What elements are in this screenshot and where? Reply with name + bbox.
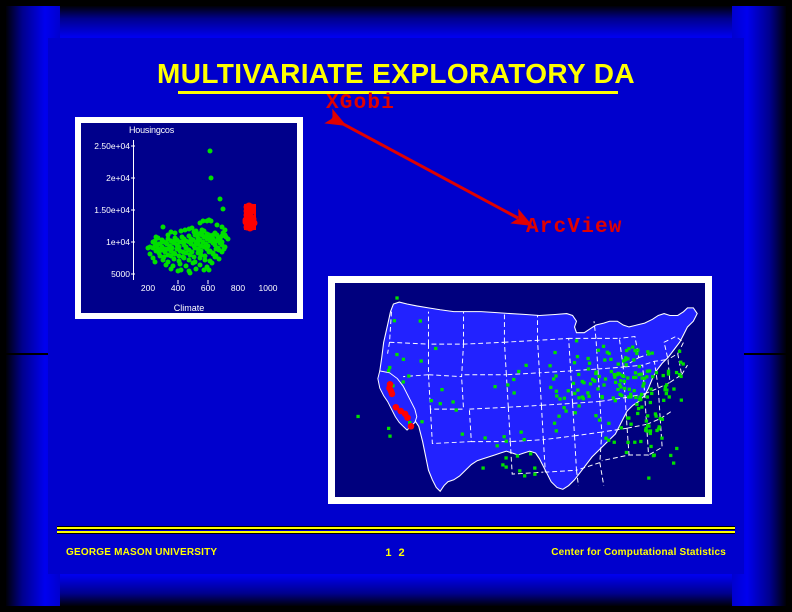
scatter-x-tick-mark (208, 280, 209, 284)
map-marker-city (655, 371, 658, 374)
map-marker-city (518, 469, 521, 472)
scatter-x-tick-label: 800 (231, 283, 245, 293)
scatter-point (161, 224, 166, 229)
map-marker-city (662, 374, 665, 377)
map-marker-city (593, 379, 596, 382)
map-marker-city (619, 379, 622, 382)
map-marker-city (481, 466, 484, 469)
map-marker-city (523, 438, 526, 441)
map-marker-city (557, 415, 560, 418)
map-marker-city (606, 351, 609, 354)
map-marker-city (575, 339, 578, 342)
map-marker-city (552, 377, 555, 380)
map-marker-city (634, 376, 637, 379)
map-marker-city (402, 380, 405, 383)
map-marker-city (609, 358, 612, 361)
map-marker-city (660, 437, 663, 440)
map-marker-city (388, 435, 391, 438)
annotation-xgobi-label: XGobi (326, 92, 395, 115)
map-marker-city (587, 395, 590, 398)
arcview-map-panel[interactable] (328, 276, 712, 504)
us-map-svg (335, 283, 705, 497)
map-marker-city-selected (404, 414, 411, 420)
scatter-point (171, 257, 176, 262)
map-marker-city (672, 387, 675, 390)
map-marker-city (594, 414, 597, 417)
map-marker-city (619, 393, 622, 396)
map-marker-city (625, 363, 628, 366)
footer-rule-black-mid (57, 529, 735, 530)
slide-frame: MULTIVARIATE EXPLORATORY DA Housingcos C… (0, 0, 792, 612)
map-marker-city (627, 347, 630, 350)
map-marker-city (602, 345, 605, 348)
map-marker-city (649, 429, 652, 432)
map-marker-city (629, 423, 632, 426)
map-marker-city (636, 412, 639, 415)
map-marker-city (501, 463, 504, 466)
map-marker-city (554, 374, 557, 377)
map-marker-city (524, 364, 527, 367)
map-marker-city (640, 405, 643, 408)
map-marker-city (682, 362, 685, 365)
map-marker-city-selected (408, 423, 415, 429)
map-marker-city (633, 349, 636, 352)
scatter-point (194, 266, 199, 271)
map-marker-city (651, 375, 654, 378)
map-marker-city (607, 422, 610, 425)
map-marker-city (646, 350, 649, 353)
map-marker-city (649, 388, 652, 391)
scatter-point (176, 269, 181, 274)
scatter-axes: 2.50e+042e+041.50e+041e+045000 200400600… (133, 140, 283, 280)
xgobi-plot-area[interactable]: Housingcos Climate 2.50e+042e+041.50e+04… (81, 123, 297, 313)
scatter-y-tick-mark (131, 178, 135, 179)
scatter-point (216, 257, 221, 262)
map-marker-city (505, 465, 508, 468)
map-marker-city (662, 399, 665, 402)
map-marker-city (461, 433, 464, 436)
map-marker-city (562, 406, 565, 409)
map-marker-city (638, 396, 641, 399)
map-marker-city (395, 296, 398, 299)
map-marker-city (638, 365, 641, 368)
map-marker-city (451, 400, 454, 403)
us-outline (380, 302, 697, 491)
map-marker-city (581, 380, 584, 383)
map-marker-city (647, 476, 650, 479)
map-marker-city (573, 361, 576, 364)
scatter-point (221, 206, 226, 211)
map-marker-city (596, 387, 599, 390)
map-marker-city (669, 454, 672, 457)
map-marker-city (434, 347, 437, 350)
map-marker-city (549, 386, 552, 389)
map-marker-city (635, 403, 638, 406)
map-marker-city (616, 388, 619, 391)
map-marker-city (645, 427, 648, 430)
map-marker-city (533, 473, 536, 476)
map-marker-city (631, 345, 634, 348)
map-marker-city (577, 396, 580, 399)
scatter-brush-rectangle[interactable] (244, 204, 256, 230)
map-marker-city (646, 395, 649, 398)
map-marker-city (646, 414, 649, 417)
scatter-point (197, 255, 202, 260)
scatter-point (197, 221, 202, 226)
scatter-x-tick-label: 1000 (259, 283, 278, 293)
map-marker-city (393, 319, 396, 322)
map-marker-city (548, 364, 551, 367)
map-marker-city (626, 416, 629, 419)
map-marker-city (506, 383, 509, 386)
map-marker-city (598, 375, 601, 378)
map-marker-city (655, 429, 658, 432)
footer-center-name: Center for Computational Statistics (551, 547, 726, 558)
map-marker-city (633, 441, 636, 444)
map-marker-city (598, 418, 601, 421)
title-underline (178, 91, 618, 94)
map-marker-city (626, 357, 629, 360)
scatter-x-tick-label: 200 (141, 283, 155, 293)
map-marker-city (600, 395, 603, 398)
map-marker-city (604, 377, 607, 380)
scatter-y-tick-label: 5000 (111, 269, 130, 279)
scatter-y-tick-label: 2e+04 (106, 173, 130, 183)
map-marker-city (455, 408, 458, 411)
map-marker-city (645, 419, 648, 422)
scatter-y-tick-label: 2.50e+04 (94, 141, 130, 151)
map-marker-city (640, 393, 643, 396)
map-marker-city (668, 395, 671, 398)
map-marker-city (395, 353, 398, 356)
map-marker-city (567, 389, 570, 392)
scatter-point (209, 218, 214, 223)
scatter-x-tick-label: 400 (171, 283, 185, 293)
footer-rule-black-bottom (57, 533, 735, 534)
map-marker-city (420, 420, 423, 423)
map-marker-city (613, 441, 616, 444)
map-marker-city (577, 373, 580, 376)
scatter-point (221, 247, 226, 252)
map-marker-city (440, 388, 443, 391)
scatter-y-tick-mark (131, 241, 135, 242)
scatter-y-axis-label: Housingcos (129, 125, 174, 135)
map-marker-city (387, 427, 390, 430)
map-marker-city (574, 411, 577, 414)
map-marker-city (648, 369, 651, 372)
map-marker-city (642, 382, 645, 385)
annotation-arcview-label: ArcView (526, 216, 623, 239)
map-marker-city (679, 375, 682, 378)
map-marker-city (607, 439, 610, 442)
map-marker-city (649, 445, 652, 448)
map-marker-city (625, 451, 628, 454)
map-marker-city (586, 391, 589, 394)
scatter-point (177, 262, 182, 267)
map-marker-city (635, 352, 638, 355)
map-marker-city (502, 435, 505, 438)
map-marker-city (629, 395, 632, 398)
map-marker-city (637, 407, 640, 410)
map-marker-city (672, 461, 675, 464)
map-marker-city (420, 359, 423, 362)
scatter-point (148, 251, 153, 256)
map-marker-city (520, 431, 523, 434)
page-title: MULTIVARIATE EXPLORATORY DA (48, 58, 744, 90)
scatter-point (209, 175, 214, 180)
scatter-x-tick-label: 600 (201, 283, 215, 293)
map-marker-city (649, 401, 652, 404)
scatter-point (207, 149, 212, 154)
map-marker-city (505, 440, 508, 443)
map-marker-city (626, 376, 629, 379)
map-marker-city (356, 415, 359, 418)
map-marker-city (430, 399, 433, 402)
scatter-point (188, 270, 193, 275)
map-marker-city (587, 357, 590, 360)
map-marker-city (504, 456, 507, 459)
scatter-y-tick-mark (131, 146, 135, 147)
map-marker-city (626, 441, 629, 444)
map-marker-city (517, 370, 520, 373)
map-marker-city (633, 389, 636, 392)
map-marker-city (619, 385, 622, 388)
map-marker-city (388, 366, 391, 369)
map-marker-city (573, 392, 576, 395)
arcview-map-area[interactable] (335, 283, 705, 497)
scatter-point (164, 263, 169, 268)
scatter-point (169, 266, 174, 271)
scatter-x-axis-label: Climate (81, 303, 297, 313)
map-marker-city (651, 351, 654, 354)
map-marker-city (623, 387, 626, 390)
map-marker-city (576, 388, 579, 391)
map-marker-city (496, 444, 499, 447)
map-marker-city (555, 394, 558, 397)
map-marker-city (667, 370, 670, 373)
map-marker-city (652, 454, 655, 457)
map-marker-city (516, 454, 519, 457)
map-marker-city (564, 409, 567, 412)
map-marker-city (577, 404, 580, 407)
map-marker-city (603, 358, 606, 361)
slide-canvas: MULTIVARIATE EXPLORATORY DA Housingcos C… (48, 38, 744, 574)
map-marker-city (594, 372, 597, 375)
map-marker-city (680, 399, 683, 402)
map-marker-city (665, 392, 668, 395)
footer-bar: GEORGE MASON UNIVERSITY 1 2 Center for C… (48, 543, 744, 569)
map-marker-city (614, 381, 617, 384)
map-marker-city (513, 391, 516, 394)
map-marker-city (582, 397, 585, 400)
map-marker-city (610, 370, 613, 373)
map-marker-city (628, 388, 631, 391)
map-marker-city (402, 358, 405, 361)
map-marker-city (529, 452, 532, 455)
map-marker-city (617, 362, 620, 365)
map-marker-city (483, 436, 486, 439)
map-marker-city-selected (389, 391, 396, 397)
scatter-y-tick-mark (131, 273, 135, 274)
map-marker-city (572, 382, 575, 385)
map-marker-city (650, 392, 653, 395)
map-marker-city (620, 426, 623, 429)
map-marker-city (675, 447, 678, 450)
xgobi-scatterplot-panel[interactable]: Housingcos Climate 2.50e+042e+041.50e+04… (75, 117, 303, 319)
map-marker-city (589, 382, 592, 385)
map-marker-city (555, 429, 558, 432)
scatter-y-tick-label: 1.50e+04 (94, 205, 130, 215)
map-marker-city (654, 414, 657, 417)
map-marker-city (612, 396, 615, 399)
map-marker-city (665, 388, 668, 391)
map-marker-city (555, 390, 558, 393)
map-marker-city (553, 351, 556, 354)
map-marker-city (678, 350, 681, 353)
map-marker-city (621, 374, 624, 377)
map-marker-city (558, 397, 561, 400)
map-marker-city (512, 378, 515, 381)
map-marker-city (646, 424, 649, 427)
map-marker-city (602, 383, 605, 386)
map-marker-city (632, 358, 635, 361)
scatter-point (152, 260, 157, 265)
map-marker-city (563, 397, 566, 400)
map-marker-city (553, 422, 556, 425)
map-marker-city (640, 373, 643, 376)
map-marker-city (643, 377, 646, 380)
map-marker-city (623, 380, 626, 383)
map-marker-city (419, 319, 422, 322)
scatter-point (226, 236, 231, 241)
map-marker-city (597, 349, 600, 352)
us-states-group (378, 302, 697, 491)
map-marker-city (523, 474, 526, 477)
scatter-y-tick-mark (131, 210, 135, 211)
map-marker-city (634, 396, 637, 399)
scatter-point (191, 261, 196, 266)
map-marker-city (533, 466, 536, 469)
map-marker-city (588, 362, 591, 365)
scatter-point (203, 257, 208, 262)
map-marker-city (639, 440, 642, 443)
scatter-point (201, 268, 206, 273)
footer-rules (57, 526, 735, 535)
scatter-point (182, 256, 187, 261)
scatter-point (146, 246, 151, 251)
scatter-point (206, 267, 211, 272)
scatter-y-tick-label: 1e+04 (106, 237, 130, 247)
map-marker-city (613, 373, 616, 376)
map-marker-city (634, 371, 637, 374)
map-marker-city (407, 374, 410, 377)
scatter-x-tick-mark (178, 280, 179, 284)
map-marker-city (493, 385, 496, 388)
scatter-point (209, 260, 214, 265)
map-marker-city (675, 371, 678, 374)
map-marker-city (439, 402, 442, 405)
map-marker-city (587, 367, 590, 370)
map-marker-city (665, 383, 668, 386)
scatter-point (218, 197, 223, 202)
map-marker-city (576, 355, 579, 358)
map-marker-city (622, 359, 625, 362)
map-marker-city (387, 369, 390, 372)
map-marker-city (661, 418, 664, 421)
